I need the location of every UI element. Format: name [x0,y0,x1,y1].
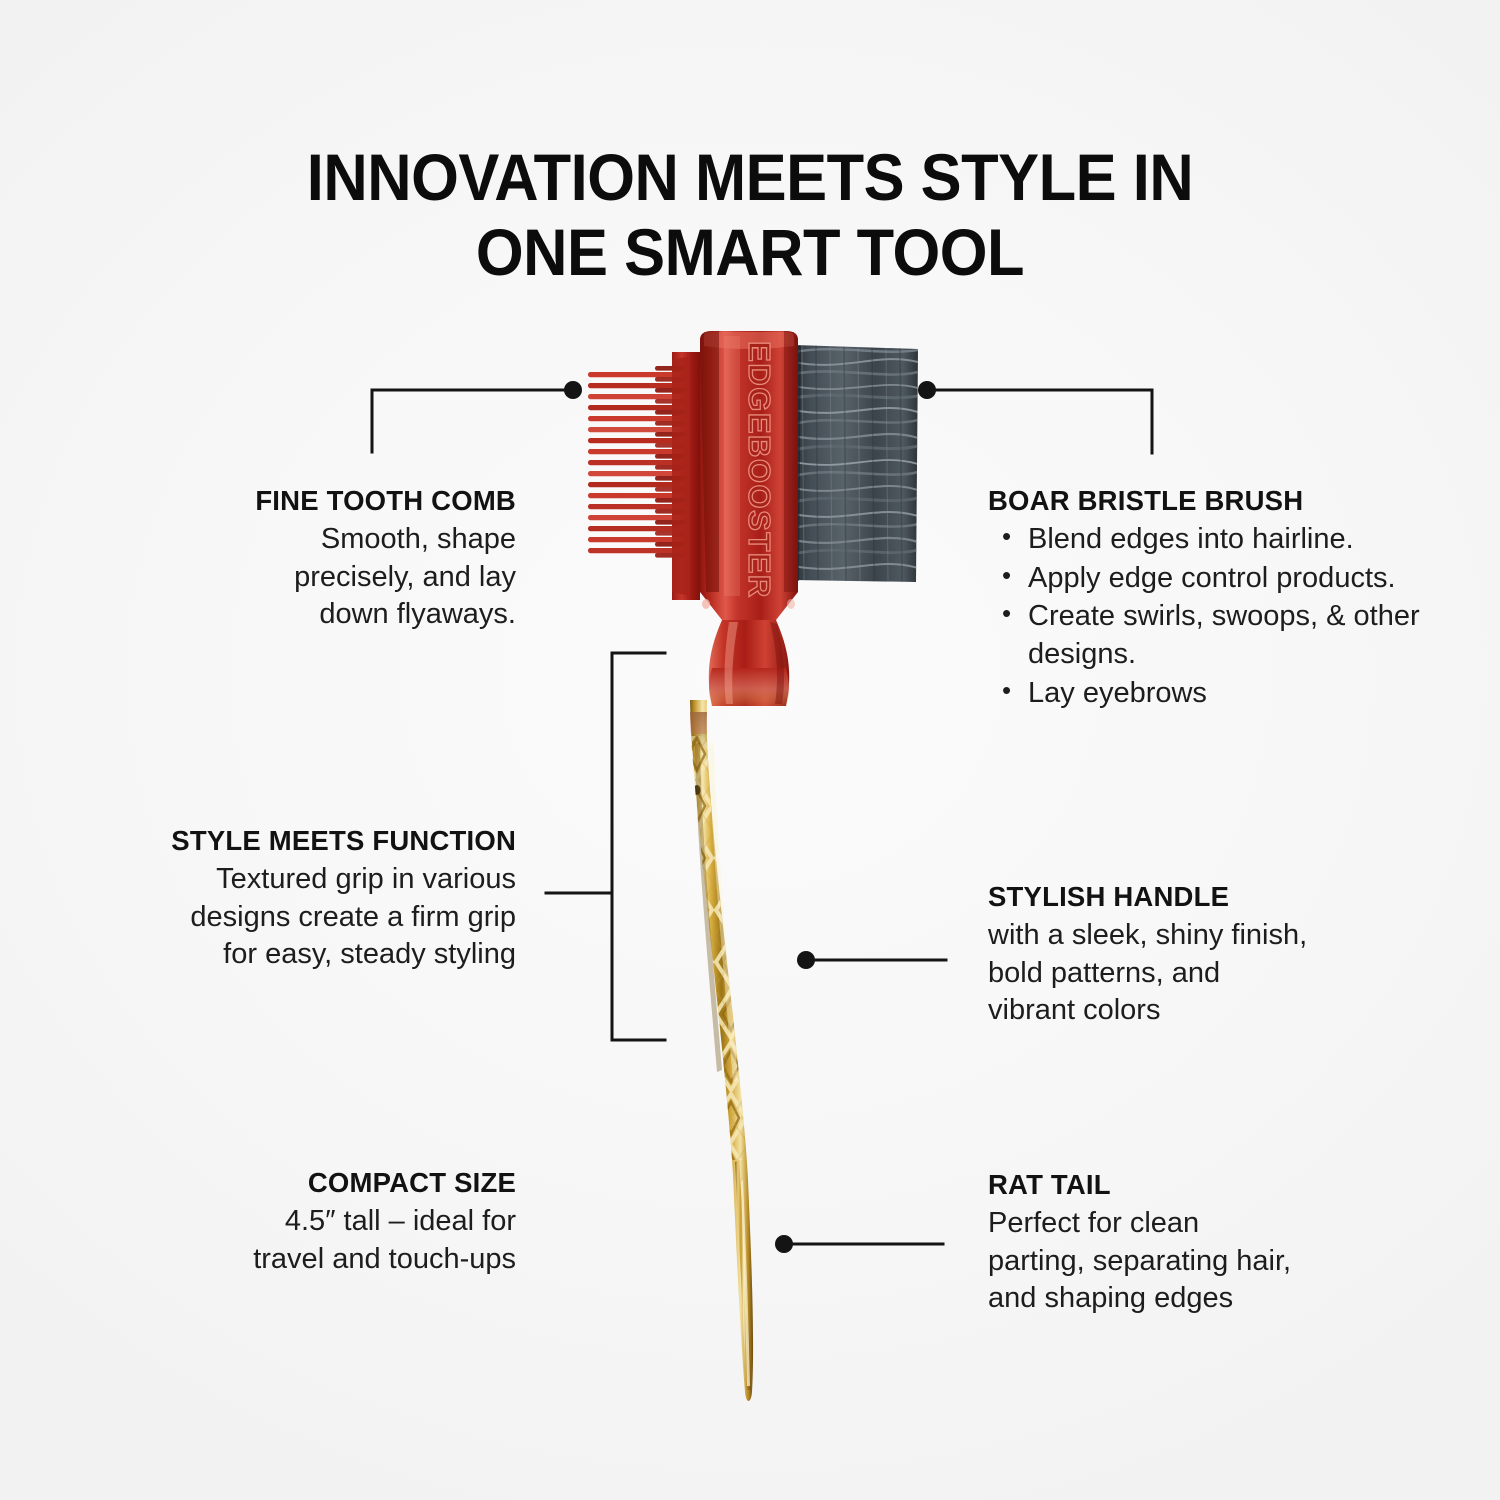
leader-boar-bristle-brush [927,390,1152,453]
callout-rat-tail: RAT TAIL Perfect for clean parting, sepa… [988,1168,1388,1318]
callout-stylish-handle: STYLISH HANDLE with a sleek, shiny finis… [988,880,1388,1030]
callout-fine-tooth-comb: FINE TOOTH COMB Smooth, shape precisely,… [112,484,516,634]
leader-dot-fine-tooth-comb [564,381,582,399]
callout-body: 4.5″ tall – ideal for travel and touch-u… [130,1203,516,1278]
leader-dot-boar-bristle-brush [918,381,936,399]
list-item: Blend edges into hairline. [1028,521,1424,559]
infographic-canvas: INNOVATION MEETS STYLE IN ONE SMART TOOL [0,0,1500,1500]
leader-dot-rat-tail [775,1235,793,1253]
callout-heading: STYLE MEETS FUNCTION [84,824,516,857]
list-item: Apply edge control products. [1028,560,1424,598]
list-item: Create swirls, swoops, & other designs. [1028,598,1424,673]
callout-heading: FINE TOOTH COMB [112,484,516,517]
callout-bullet-list: Blend edges into hairline. Apply edge co… [988,521,1424,712]
list-item: Lay eyebrows [1028,675,1424,713]
callout-body: with a sleek, shiny finish, bold pattern… [988,917,1388,1030]
callout-body: Perfect for clean parting, separating ha… [988,1205,1388,1318]
callout-body: Textured grip in various designs create … [84,861,516,974]
callout-heading: COMPACT SIZE [130,1166,516,1199]
callout-style-meets-function: STYLE MEETS FUNCTION Textured grip in va… [84,824,516,974]
callout-heading: BOAR BRISTLE BRUSH [988,484,1424,517]
callout-heading: RAT TAIL [988,1168,1388,1201]
callout-body: Smooth, shape precisely, and lay down fl… [112,521,516,634]
leader-dot-stylish-handle [797,951,815,969]
callout-boar-bristle-brush: BOAR BRISTLE BRUSH Blend edges into hair… [988,484,1424,713]
leader-fine-tooth-comb [372,390,573,452]
callout-heading: STYLISH HANDLE [988,880,1388,913]
leader-style-meets-function-bracket [612,653,665,1040]
callout-compact-size: COMPACT SIZE 4.5″ tall – ideal for trave… [130,1166,516,1278]
